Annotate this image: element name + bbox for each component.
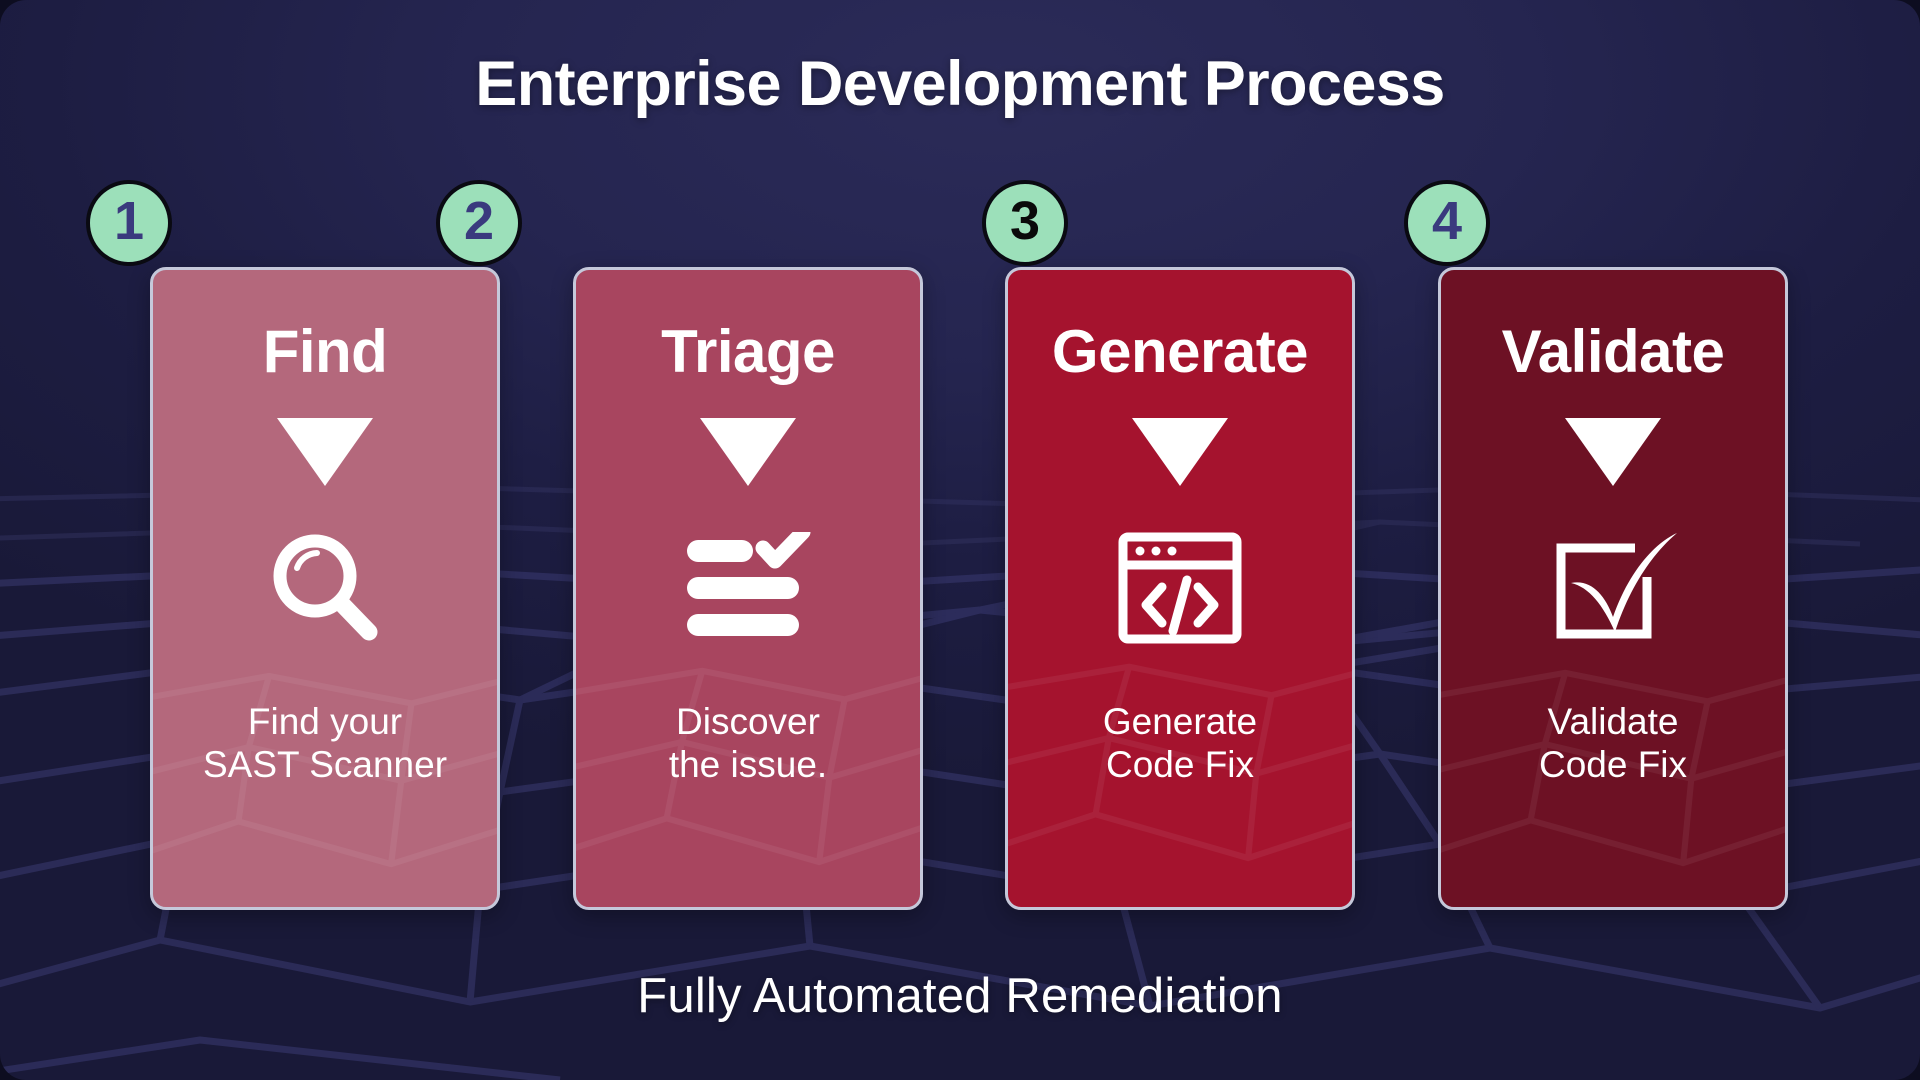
code-window-icon [1105, 528, 1255, 648]
step-badge-number: 1 [114, 194, 144, 248]
checkbox-check-icon [1538, 528, 1688, 648]
step-body: Generate Code Fix [1008, 700, 1352, 787]
step-badge-1: 1 [86, 180, 172, 266]
triangle-down-icon [277, 418, 373, 486]
page-caption: Fully Automated Remediation [0, 968, 1920, 1024]
infographic-canvas: Enterprise Development Process Find [0, 0, 1920, 1080]
step-title: Triage [661, 322, 835, 382]
step-body: Discover the issue. [576, 700, 920, 787]
triangle-down-icon [700, 418, 796, 486]
step-title: Generate [1052, 322, 1308, 382]
step-title: Find [263, 322, 388, 382]
step-badge-number: 3 [1010, 194, 1040, 248]
step-body: Find your SAST Scanner [153, 700, 497, 787]
triangle-down-icon [1565, 418, 1661, 486]
step-badge-4: 4 [1404, 180, 1490, 266]
step-badge-3: 3 [982, 180, 1068, 266]
step-body: Validate Code Fix [1441, 700, 1785, 787]
steps-container: Find Find your SAST Scanner [0, 0, 1920, 1080]
step-card-validate[interactable]: Validate Validate Code Fix [1438, 267, 1788, 910]
step-badge-number: 2 [464, 194, 494, 248]
step-card-generate[interactable]: Generate Generate Code Fix [1005, 267, 1355, 910]
step-card-find[interactable]: Find Find your SAST Scanner [150, 267, 500, 910]
triangle-down-icon [1132, 418, 1228, 486]
step-badge-2: 2 [436, 180, 522, 266]
step-badge-number: 4 [1432, 194, 1462, 248]
magnifier-icon [250, 528, 400, 648]
checklist-icon [673, 528, 823, 648]
step-card-triage[interactable]: Triage Discover the issue. [573, 267, 923, 910]
step-title: Validate [1502, 322, 1725, 382]
